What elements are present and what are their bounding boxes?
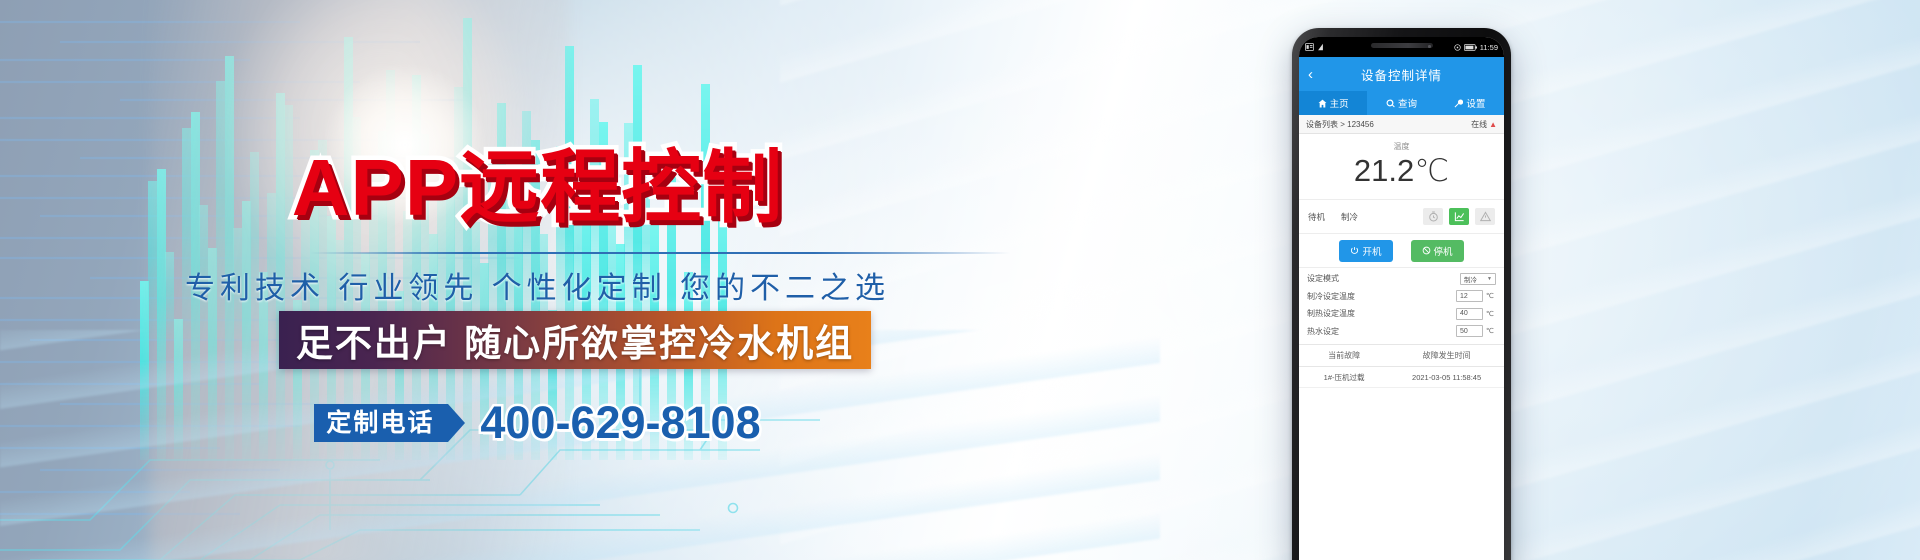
power-on-label: 开机 xyxy=(1362,244,1381,258)
alert-icon xyxy=(1480,211,1491,222)
home-icon xyxy=(1318,99,1327,108)
online-status: 在线 ▲ xyxy=(1471,119,1497,130)
mode-select[interactable]: 制冷 ▼ xyxy=(1460,273,1496,285)
phone-screen: 11:59 ‹ 设备控制详情 主页 查询 设置 xyxy=(1299,37,1504,560)
heat-temp-input[interactable]: 40 xyxy=(1456,308,1483,320)
promo-banner: APP远程控制 专利技术 行业领先 个性化定制 您的不二之选 足不出户 随心所欲… xyxy=(0,0,1920,560)
hot-water-control: 50 ℃ xyxy=(1456,325,1496,337)
setting-row-heat-temp: 制热设定温度 40 ℃ xyxy=(1299,305,1504,323)
cool-temp-input[interactable]: 12 xyxy=(1456,290,1483,302)
wrench-icon xyxy=(1454,99,1463,108)
phone-status-bar: 11:59 xyxy=(1299,37,1504,57)
heat-temp-label: 制热设定温度 xyxy=(1307,308,1355,319)
online-status-label: 在线 xyxy=(1471,119,1487,130)
power-off-label: 停机 xyxy=(1434,244,1453,258)
mode-select-value: 制冷 xyxy=(1464,274,1477,284)
fault-name: 1#-压机过载 xyxy=(1299,372,1389,383)
status-time: 11:59 xyxy=(1480,43,1498,52)
app-title: 设备控制详情 xyxy=(1299,65,1504,84)
hot-water-input[interactable]: 50 xyxy=(1456,325,1483,337)
setting-mode-label: 设定模式 xyxy=(1307,273,1339,284)
chart-icon xyxy=(1454,211,1465,222)
battery-icon xyxy=(1464,44,1477,51)
mode-row: 待机 制冷 xyxy=(1299,200,1504,234)
cool-temp-label: 制冷设定温度 xyxy=(1307,291,1355,302)
device-state-label: 待机 xyxy=(1308,211,1325,223)
hotline-row: 定制电话 400-629-8108 xyxy=(0,396,1075,450)
device-mode-label: 制冷 xyxy=(1341,211,1358,223)
tab-home-label: 主页 xyxy=(1330,96,1349,110)
chart-button[interactable] xyxy=(1449,208,1469,225)
hot-water-label: 热水设定 xyxy=(1307,326,1339,337)
hotline-label: 定制电话 xyxy=(314,404,448,442)
tab-bar: 主页 查询 设置 xyxy=(1299,91,1504,115)
phone-front-camera xyxy=(1428,45,1431,48)
setting-row-mode: 设定模式 制冷 ▼ xyxy=(1299,270,1504,288)
tab-settings[interactable]: 设置 xyxy=(1436,91,1504,115)
settings-list: 设定模式 制冷 ▼ 制冷设定温度 12 ℃ xyxy=(1299,268,1504,345)
page-title: APP远程控制 xyxy=(0,148,1075,228)
breadcrumb[interactable]: 设备列表 > 123456 xyxy=(1306,119,1374,130)
copy-block: APP远程控制 专利技术 行业领先 个性化定制 您的不二之选 足不出户 随心所欲… xyxy=(0,0,1075,560)
power-icon xyxy=(1350,246,1359,255)
tab-home[interactable]: 主页 xyxy=(1299,91,1367,115)
phone-mockup: 11:59 ‹ 设备控制详情 主页 查询 设置 xyxy=(1292,28,1511,560)
temperature-label: 温度 xyxy=(1299,141,1504,152)
app-header: ‹ 设备控制详情 xyxy=(1299,57,1504,91)
setting-row-hot-water: 热水设定 50 ℃ xyxy=(1299,323,1504,341)
back-icon[interactable]: ‹ xyxy=(1308,67,1313,82)
temperature-value: 21.2℃ xyxy=(1299,153,1504,189)
fault-table-header: 当前故障 故障发生时间 xyxy=(1299,345,1504,367)
status-right-icons: 11:59 xyxy=(1454,43,1498,52)
tagline-text: 足不出户 随心所欲掌控冷水机组 xyxy=(296,313,854,367)
tagline-strip: 足不出户 随心所欲掌控冷水机组 xyxy=(279,311,871,369)
signal-icon xyxy=(1317,43,1324,51)
fault-col-name: 当前故障 xyxy=(1299,350,1389,361)
setting-row-cool-temp: 制冷设定温度 12 ℃ xyxy=(1299,288,1504,306)
setting-mode-control: 制冷 ▼ xyxy=(1460,273,1496,285)
fault-table: 当前故障 故障发生时间 1#-压机过载 2021-03-05 11:58:45 xyxy=(1299,345,1504,560)
heat-temp-control: 40 ℃ xyxy=(1456,308,1496,320)
sim-card-icon xyxy=(1305,43,1314,51)
phone-earpiece xyxy=(1371,43,1433,48)
search-icon xyxy=(1386,99,1395,108)
hotline-number[interactable]: 400-629-8108 xyxy=(480,397,760,449)
hot-water-unit: ℃ xyxy=(1486,327,1496,335)
tab-query[interactable]: 查询 xyxy=(1367,91,1435,115)
fault-time: 2021-03-05 11:58:45 xyxy=(1389,373,1504,382)
table-row[interactable]: 1#-压机过载 2021-03-05 11:58:45 xyxy=(1299,367,1504,388)
power-on-button[interactable]: 开机 xyxy=(1339,240,1392,262)
status-left-icons xyxy=(1305,43,1324,51)
title-divider xyxy=(310,252,1010,254)
temperature-card: 温度 21.2℃ xyxy=(1299,134,1504,200)
tab-settings-label: 设置 xyxy=(1466,96,1485,110)
warning-triangle-icon: ▲ xyxy=(1489,120,1497,129)
stop-icon xyxy=(1422,246,1431,255)
mode-icon-group xyxy=(1423,208,1495,225)
timer-button[interactable] xyxy=(1423,208,1443,225)
heat-temp-unit: ℃ xyxy=(1486,310,1496,318)
power-off-button[interactable]: 停机 xyxy=(1411,240,1464,262)
power-row: 开机 停机 xyxy=(1299,234,1504,268)
subtitle: 专利技术 行业领先 个性化定制 您的不二之选 xyxy=(0,263,1075,307)
timer-icon xyxy=(1428,211,1439,222)
tab-query-label: 查询 xyxy=(1398,96,1417,110)
fault-col-time: 故障发生时间 xyxy=(1389,350,1504,361)
alert-button[interactable] xyxy=(1475,208,1495,225)
location-icon xyxy=(1454,44,1461,51)
breadcrumb-row: 设备列表 > 123456 在线 ▲ xyxy=(1299,115,1504,134)
chevron-down-icon: ▼ xyxy=(1487,276,1492,282)
cool-temp-control: 12 ℃ xyxy=(1456,290,1496,302)
cool-temp-unit: ℃ xyxy=(1486,292,1496,300)
